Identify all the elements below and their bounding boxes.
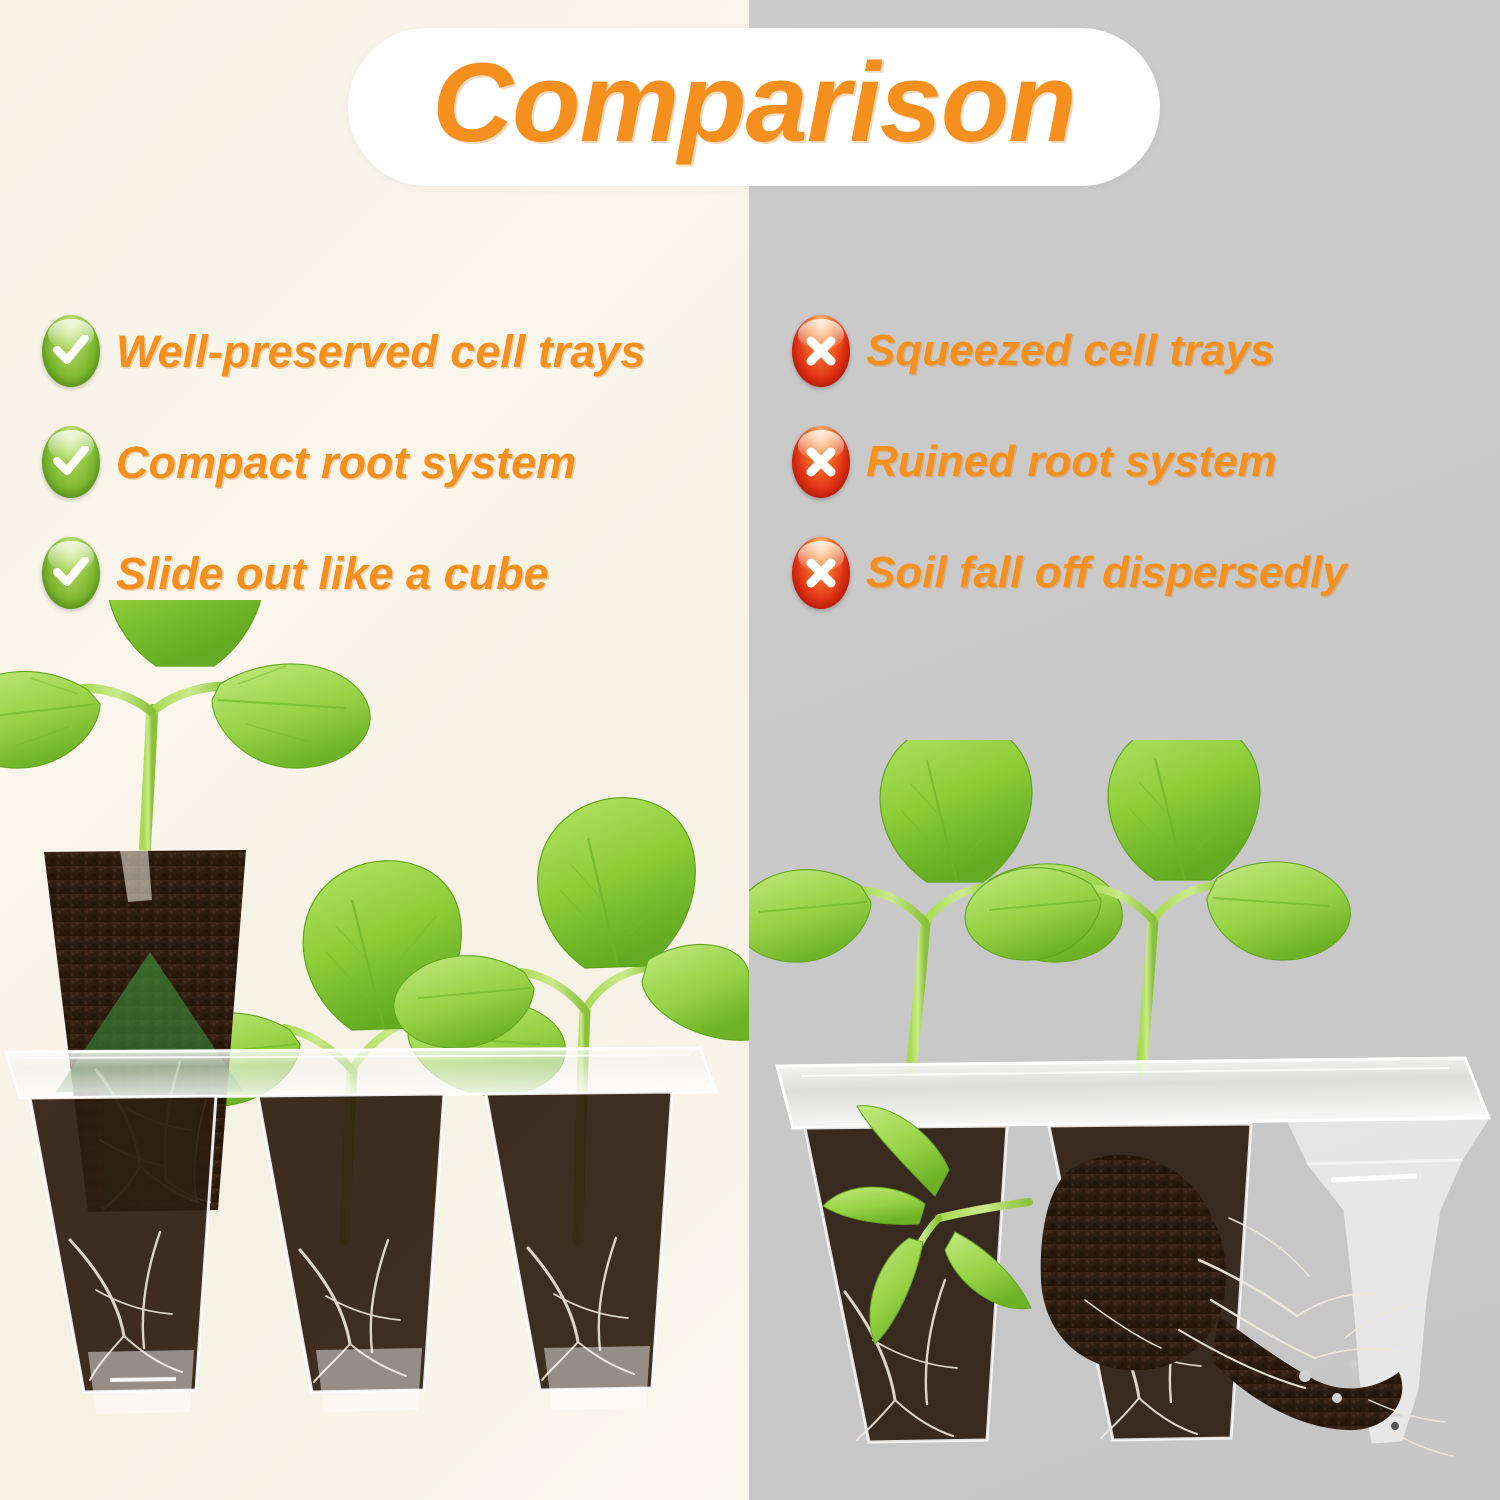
comparison-infographic: Comparison Well-preserved cell trays Com… [0,0,1500,1500]
feature-label: Compact root system [116,440,576,485]
good-feature-list: Well-preserved cell trays Compact root s… [42,312,742,645]
check-circle-icon [42,315,100,387]
feature-row-good-3: Slide out like a cube [42,534,742,612]
page-title: Comparison [432,47,1075,159]
feature-label: Well-preserved cell trays [116,329,645,374]
right-product-illustration [749,740,1500,1500]
feature-row-bad-3: Soil fall off dispersedly [792,534,1492,612]
check-circle-icon [42,537,100,609]
feature-row-good-2: Compact root system [42,423,742,501]
bad-feature-list: Squeezed cell trays Ruined root system S… [792,312,1492,645]
feature-label: Squeezed cell trays [866,329,1274,373]
feature-row-bad-1: Squeezed cell trays [792,312,1492,390]
squeezed-seedling-tray-photo [749,740,1500,1500]
intact-seedling-tray-photo [0,600,749,1500]
feature-label: Slide out like a cube [116,551,549,596]
left-product-illustration [0,600,749,1500]
clear-tray [6,1048,716,1414]
feature-row-bad-2: Ruined root system [792,423,1492,501]
check-circle-icon [42,426,100,498]
cross-circle-icon [792,315,850,387]
cross-circle-icon [792,537,850,609]
feature-label: Soil fall off dispersedly [866,551,1347,595]
feature-label: Ruined root system [866,440,1277,484]
title-banner: Comparison [348,28,1160,186]
cross-circle-icon [792,426,850,498]
feature-row-good-1: Well-preserved cell trays [42,312,742,390]
